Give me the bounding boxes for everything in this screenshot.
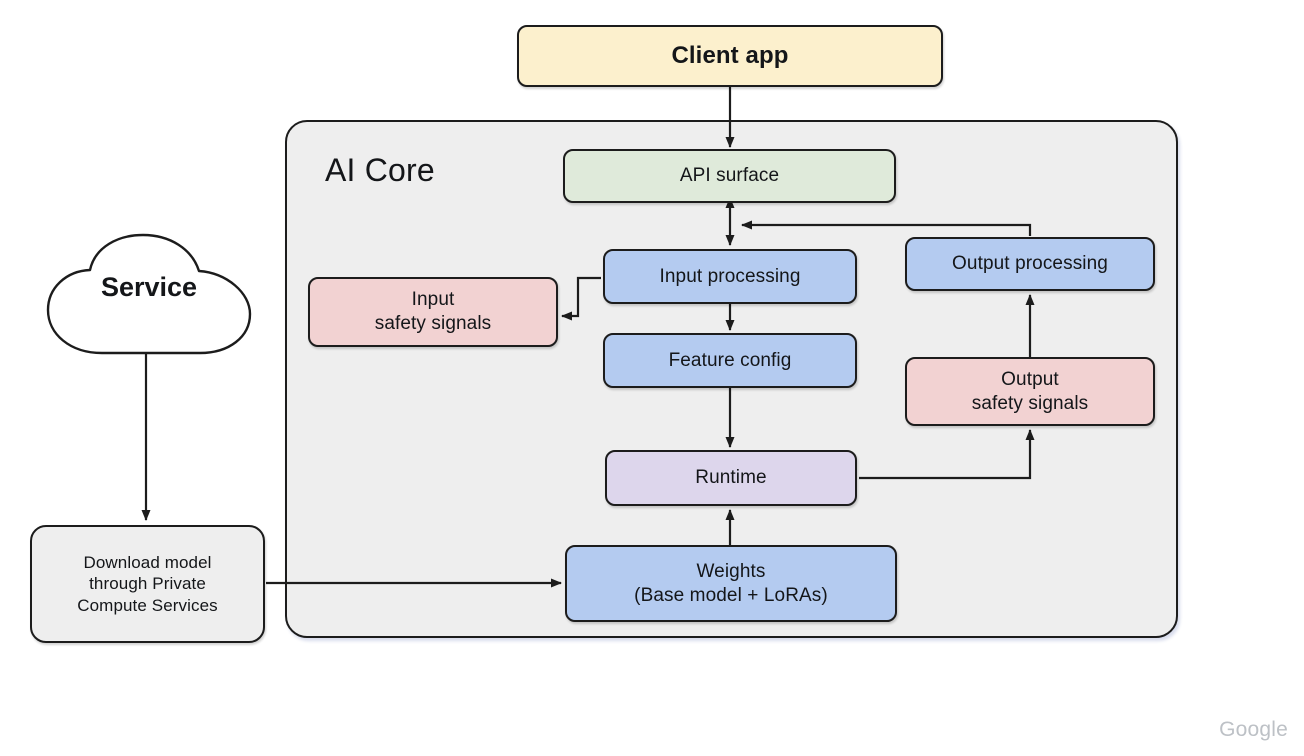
input-processing-label: Input processing [659,265,800,289]
weights-line2: (Base model + LoRAs) [634,584,828,608]
output-safety-line1: Output [972,368,1089,392]
diagram-canvas: AI Core [0,0,1304,756]
api-surface-node[interactable]: API surface [563,149,896,203]
output-processing-label: Output processing [952,252,1108,276]
feature-config-node[interactable]: Feature config [603,333,857,388]
download-model-node[interactable]: Download model through Private Compute S… [30,525,265,643]
output-safety-line2: safety signals [972,392,1089,416]
weights-node[interactable]: Weights (Base model + LoRAs) [565,545,897,622]
output-safety-signals-node[interactable]: Output safety signals [905,357,1155,426]
runtime-label: Runtime [695,466,766,490]
ai-core-title: AI Core [325,152,435,189]
weights-line1: Weights [634,560,828,584]
input-safety-line2: safety signals [375,312,492,336]
client-app-node[interactable]: Client app [517,25,943,87]
google-watermark: Google [1219,718,1288,742]
download-model-line1: Download model [77,552,218,573]
download-model-line2: through Private [77,573,218,594]
feature-config-label: Feature config [669,349,792,373]
output-processing-node[interactable]: Output processing [905,237,1155,291]
download-model-line3: Compute Services [77,595,218,616]
api-surface-label: API surface [680,164,779,188]
runtime-node[interactable]: Runtime [605,450,857,506]
input-safety-signals-node[interactable]: Input safety signals [308,277,558,347]
client-app-label: Client app [671,41,788,71]
input-safety-line1: Input [375,288,492,312]
input-processing-node[interactable]: Input processing [603,249,857,304]
service-cloud-label: Service [40,272,258,303]
